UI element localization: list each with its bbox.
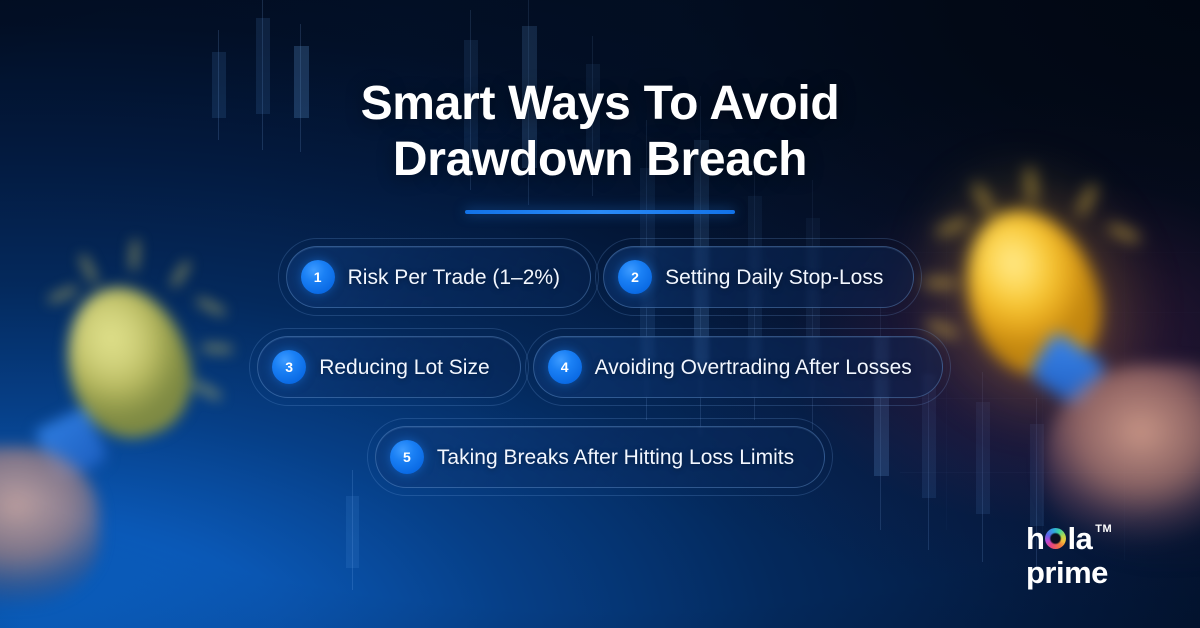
tip-label-5: Taking Breaks After Hitting Loss Limits	[437, 447, 794, 468]
tips-row-2: 3 Reducing Lot Size 4 Avoiding Overtradi…	[257, 336, 943, 398]
tip-item-1[interactable]: 1 Risk Per Trade (1–2%)	[286, 246, 591, 308]
tips-list: 1 Risk Per Trade (1–2%) 2 Setting Daily …	[0, 246, 1200, 488]
tip-number-badge-1: 1	[301, 260, 335, 294]
tip-label-3: Reducing Lot Size	[319, 357, 489, 378]
holaprime-logo: h la TM prime	[1026, 523, 1158, 588]
tip-label-1: Risk Per Trade (1–2%)	[348, 267, 560, 288]
tip-number-badge-4: 4	[548, 350, 582, 384]
poster-canvas: Smart Ways To Avoid Drawdown Breach 1 Ri…	[0, 0, 1200, 628]
trademark-symbol: TM	[1095, 524, 1112, 535]
logo-line-hola: h la TM	[1026, 523, 1158, 554]
tip-number-badge-3: 3	[272, 350, 306, 384]
tip-item-3[interactable]: 3 Reducing Lot Size	[257, 336, 520, 398]
tip-label-4: Avoiding Overtrading After Losses	[595, 357, 912, 378]
logo-text-la: la	[1067, 523, 1092, 554]
tip-item-4[interactable]: 4 Avoiding Overtrading After Losses	[533, 336, 943, 398]
tips-row-1: 1 Risk Per Trade (1–2%) 2 Setting Daily …	[286, 246, 915, 308]
title-line-2: Drawdown Breach	[0, 132, 1200, 188]
page-title: Smart Ways To Avoid Drawdown Breach	[0, 76, 1200, 214]
title-line-1: Smart Ways To Avoid	[0, 76, 1200, 132]
tip-number-badge-2: 2	[618, 260, 652, 294]
logo-orb-icon	[1045, 528, 1066, 549]
logo-line-prime: prime	[1026, 557, 1158, 588]
title-underline	[465, 210, 735, 214]
tip-item-2[interactable]: 2 Setting Daily Stop-Loss	[603, 246, 914, 308]
logo-text-h: h	[1026, 523, 1044, 554]
tip-item-5[interactable]: 5 Taking Breaks After Hitting Loss Limit…	[375, 426, 825, 488]
tips-row-3: 5 Taking Breaks After Hitting Loss Limit…	[375, 426, 825, 488]
tip-number-badge-5: 5	[390, 440, 424, 474]
tip-label-2: Setting Daily Stop-Loss	[665, 267, 883, 288]
